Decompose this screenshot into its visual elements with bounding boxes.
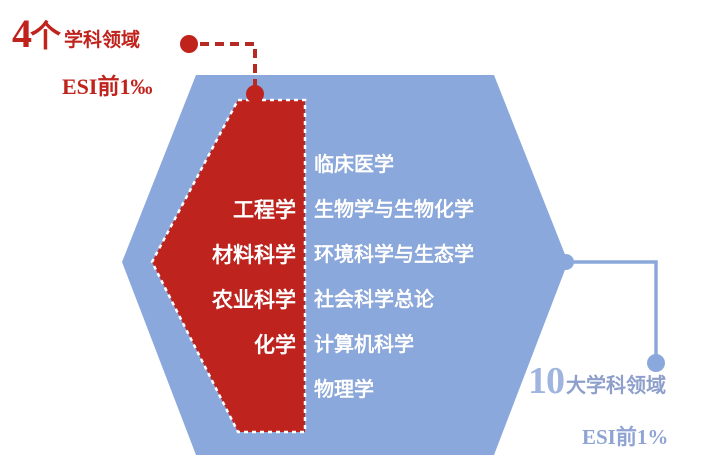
list-item: 物理学 [314, 368, 564, 413]
connector-right-path [566, 262, 656, 360]
connector-left-end-dot [246, 85, 264, 103]
blue-discipline-list: 临床医学 生物学与生物化学 环境科学与生态学 社会科学总论 计算机科学 物理学 [314, 143, 564, 413]
red-discipline-list: 工程学 材料科学 农业科学 化学 [168, 188, 296, 368]
list-item: 环境科学与生态学 [314, 233, 564, 278]
connector-right-solid [558, 254, 665, 372]
list-item: 化学 [168, 323, 296, 368]
bottom-right-sub-label: ESI前1% [582, 425, 668, 450]
list-item: 工程学 [168, 188, 296, 233]
top-left-sub-label: ESI前1‰ [62, 74, 152, 100]
diagram-canvas: 4 个 学科领域 ESI前1‰ 10 大学科领域 ESI前1% 工程学 材料科学… [0, 0, 720, 476]
list-item: 社会科学总论 [314, 278, 564, 323]
list-item: 材料科学 [168, 233, 296, 278]
list-item: 临床医学 [314, 143, 564, 188]
top-left-unit: 个 [30, 20, 61, 54]
list-item: 生物学与生物化学 [314, 188, 564, 233]
callout-top-left: 4 个 学科领域 [12, 14, 202, 60]
top-left-number: 4 [12, 14, 31, 54]
top-left-label: 学科领域 [64, 30, 140, 52]
list-item: 农业科学 [168, 278, 296, 323]
list-item: 计算机科学 [314, 323, 564, 368]
bottom-right-label: 大学科领域 [566, 374, 666, 398]
